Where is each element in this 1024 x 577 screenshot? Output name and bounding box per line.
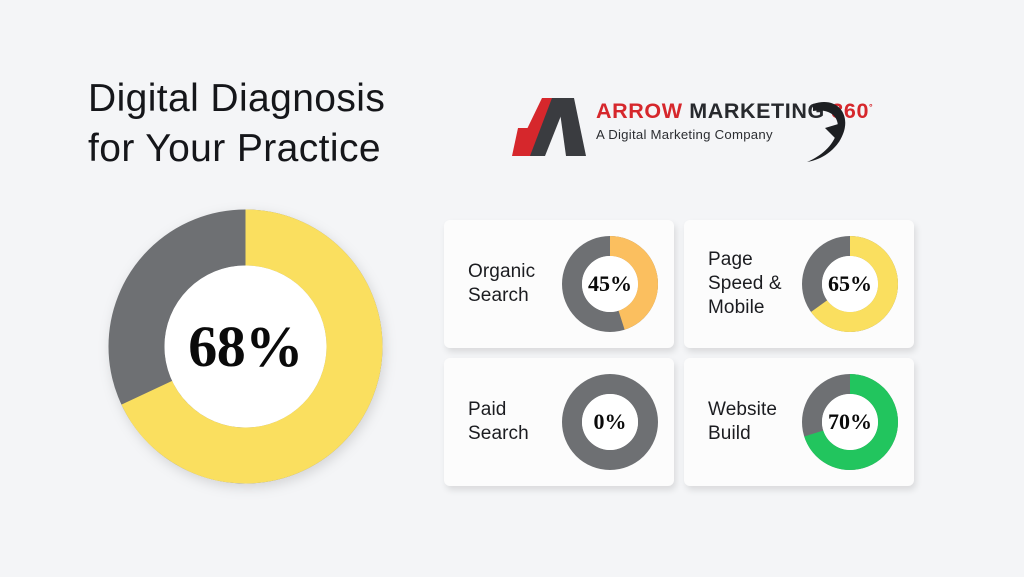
metric-card-value: 65% bbox=[802, 236, 898, 332]
metric-cards-grid: Organic Search 45% Page Speed & Mobile 6… bbox=[444, 220, 914, 486]
poster-canvas: Digital Diagnosis for Your Practice ARRO… bbox=[0, 0, 1024, 577]
metric-card-paid-search[interactable]: Paid Search 0% bbox=[444, 358, 674, 486]
paid-search-donut: 0% bbox=[562, 374, 658, 470]
organic-search-donut: 45% bbox=[562, 236, 658, 332]
website-build-donut: 70% bbox=[802, 374, 898, 470]
page-speed-mobile-donut: 65% bbox=[802, 236, 898, 332]
logo-word-arrow: ARROW bbox=[596, 99, 683, 123]
metric-card-value: 45% bbox=[562, 236, 658, 332]
swoosh-arrow-icon bbox=[795, 92, 853, 168]
degree-symbol-icon: ° bbox=[869, 102, 873, 112]
brand-logo: ARROW MARKETING 360° A Digital Marketing… bbox=[512, 92, 852, 168]
overall-score-donut: 68% bbox=[107, 208, 384, 485]
metric-card-website-build[interactable]: Website Build 70% bbox=[684, 358, 914, 486]
metric-card-value: 0% bbox=[562, 374, 658, 470]
metric-card-value: 70% bbox=[802, 374, 898, 470]
page-title: Digital Diagnosis for Your Practice bbox=[88, 74, 385, 174]
metric-card-organic-search[interactable]: Organic Search 45% bbox=[444, 220, 674, 348]
overall-score-value: 68% bbox=[107, 208, 384, 485]
metric-card-page-speed-mobile[interactable]: Page Speed & Mobile 65% bbox=[684, 220, 914, 348]
arrow-mark-icon bbox=[512, 96, 588, 158]
